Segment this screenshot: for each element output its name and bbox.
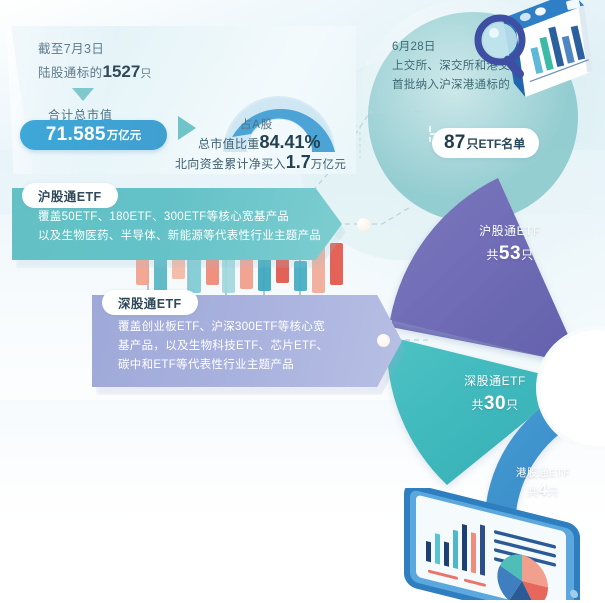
holdings-value: 1527	[103, 62, 141, 81]
pie-label-hu-gu-tong: 沪股通ETF 共53只	[450, 222, 570, 265]
ratio-value: 84.41%	[260, 132, 321, 152]
flow-prefix: 北向资金累计净买入	[175, 157, 286, 171]
pie-slice-value: 共53只	[450, 243, 570, 265]
pie-slice-name: 港股通ETF	[497, 465, 589, 480]
marketcap-ratio-line: 总市值比重84.41%	[198, 132, 321, 153]
description-line: 基产品，以及生物科技ETF、芯片ETF、	[118, 337, 350, 356]
triangle-right-icon	[178, 116, 196, 140]
holdings-count: 陆股通标的1527只	[38, 62, 152, 82]
shen-gu-tong-etf-description: 覆盖创业板ETF、沪深300ETF等核心宽 基产品，以及生物科技ETF、芯片ET…	[118, 318, 350, 375]
pie-slice-name: 沪股通ETF	[450, 222, 570, 239]
as-of-date-label: 截至7月3日	[38, 38, 104, 57]
flow-unit: 万亿元	[311, 159, 346, 171]
tablet-dashboard-icon	[398, 488, 598, 600]
magnifier-clipboard-chart-icon	[462, 0, 604, 96]
bullet-dot-icon	[377, 334, 390, 347]
infographic-canvas: 沪股通ETF 共53只 深股通ETF 共30只 港股通ETF 共4只	[0, 0, 605, 603]
etf-count-suffix: 只ETF名单	[467, 135, 526, 152]
description-line: 碳中和ETF等代表性行业主题产品	[118, 356, 350, 375]
description-line: 覆盖创业板ETF、沪深300ETF等核心宽	[118, 318, 350, 337]
total-marketcap-unit: 万亿元	[107, 127, 142, 143]
hu-gu-tong-etf-description: 覆盖50ETF、180ETF、300ETF等核心宽基产品 以及生物医药、半导体、…	[38, 208, 338, 246]
description-line: 以及生物医药、半导体、新能源等代表性行业主题产品	[38, 227, 338, 246]
total-marketcap-number: 71.585	[46, 124, 106, 146]
holdings-unit: 只	[140, 68, 151, 80]
etf-count-badge: 87只ETF名单	[432, 128, 539, 158]
bullet-dot-icon	[357, 218, 370, 231]
northbound-flow-line: 北向资金累计净买入1.7万亿元	[175, 152, 346, 173]
hu-gu-tong-etf-tag: 沪股通ETF	[22, 183, 118, 208]
pie-slice-value: 共30只	[440, 393, 550, 415]
etf-count-number: 87	[444, 132, 466, 154]
total-marketcap-value-pill: 71.585万亿元	[20, 120, 167, 150]
flow-value: 1.7	[286, 152, 311, 172]
ratio-prefix: 总市值比重	[198, 137, 260, 151]
pie-label-shen-gu-tong: 深股通ETF 共30只	[440, 372, 550, 415]
pie-slice-name: 深股通ETF	[440, 372, 550, 389]
holdings-prefix: 陆股通标的	[38, 66, 103, 80]
gauge-caption: 占A股	[240, 116, 273, 132]
description-line: 覆盖50ETF、180ETF、300ETF等核心宽基产品	[38, 208, 338, 227]
shen-gu-tong-etf-tag: 深股通ETF	[102, 290, 198, 315]
triangle-down-icon	[72, 88, 94, 101]
